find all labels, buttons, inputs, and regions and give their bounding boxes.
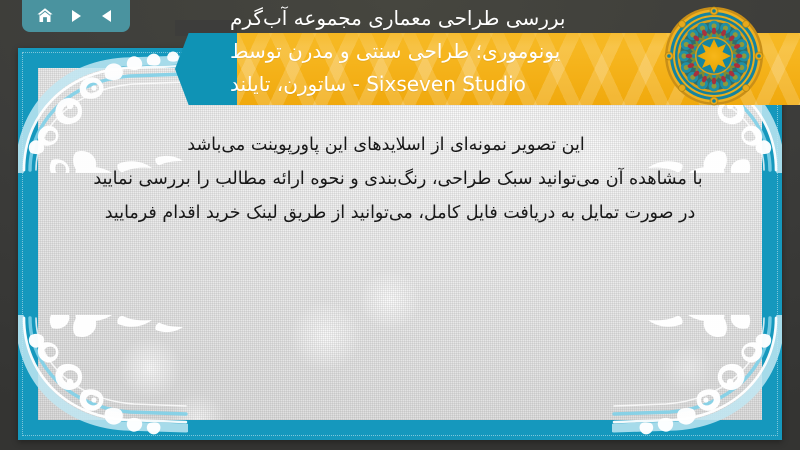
triangle-right-icon <box>67 7 85 25</box>
content-frame <box>18 48 782 440</box>
triangle-left-icon <box>98 7 116 25</box>
navigation-bar <box>22 0 130 32</box>
slide-stage: این تصویر نمونه‌ای از اسلایدهای این پاور… <box>0 0 800 450</box>
back-button[interactable] <box>96 5 118 27</box>
content-panel <box>38 68 762 420</box>
home-icon <box>35 6 55 26</box>
panel-texture <box>38 68 762 420</box>
persian-mandala-ornament-icon <box>664 6 764 106</box>
forward-button[interactable] <box>65 5 87 27</box>
home-button[interactable] <box>34 5 56 27</box>
